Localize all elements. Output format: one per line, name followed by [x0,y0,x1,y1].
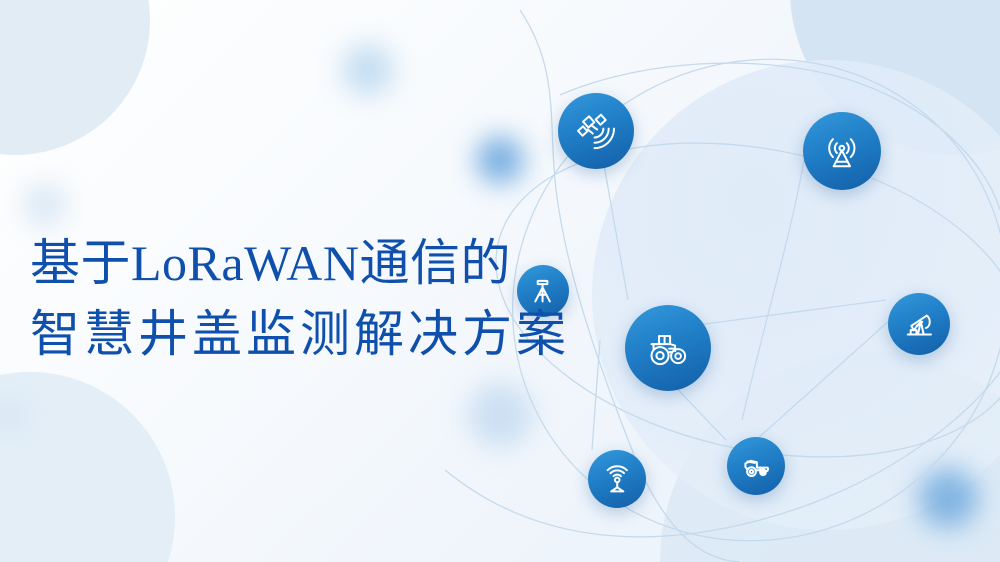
orbit-arc-lower [445,372,1000,537]
icon-node-sensor[interactable] [588,450,646,508]
oil-pumpjack-icon [902,307,937,342]
icon-node-harvester[interactable] [727,437,785,495]
title-line-1: 基于LoRaWAN通信的 [30,228,590,299]
radio-tower-icon [820,129,864,173]
orbit-chord-harvester-pump [756,320,890,440]
icon-node-satellite[interactable] [558,93,634,169]
harvester-vehicle-icon [740,450,772,482]
icon-node-pumpjack[interactable] [888,293,950,355]
title-slide: 基于LoRaWAN通信的 智慧井盖监测解决方案 [0,0,1000,562]
orbit-chord-tractor-sensor [592,340,600,450]
icon-node-antenna[interactable] [803,112,881,190]
title-line-2: 智慧井盖监测解决方案 [30,299,590,370]
icon-node-tractor[interactable] [625,305,711,391]
wireless-sensor-icon [601,463,633,495]
satellite-dish-icon [575,110,618,153]
page-title: 基于LoRaWAN通信的 智慧井盖监测解决方案 [30,228,590,370]
orbit-chord-antenna-harvester [742,150,806,420]
tractor-icon [644,324,692,372]
